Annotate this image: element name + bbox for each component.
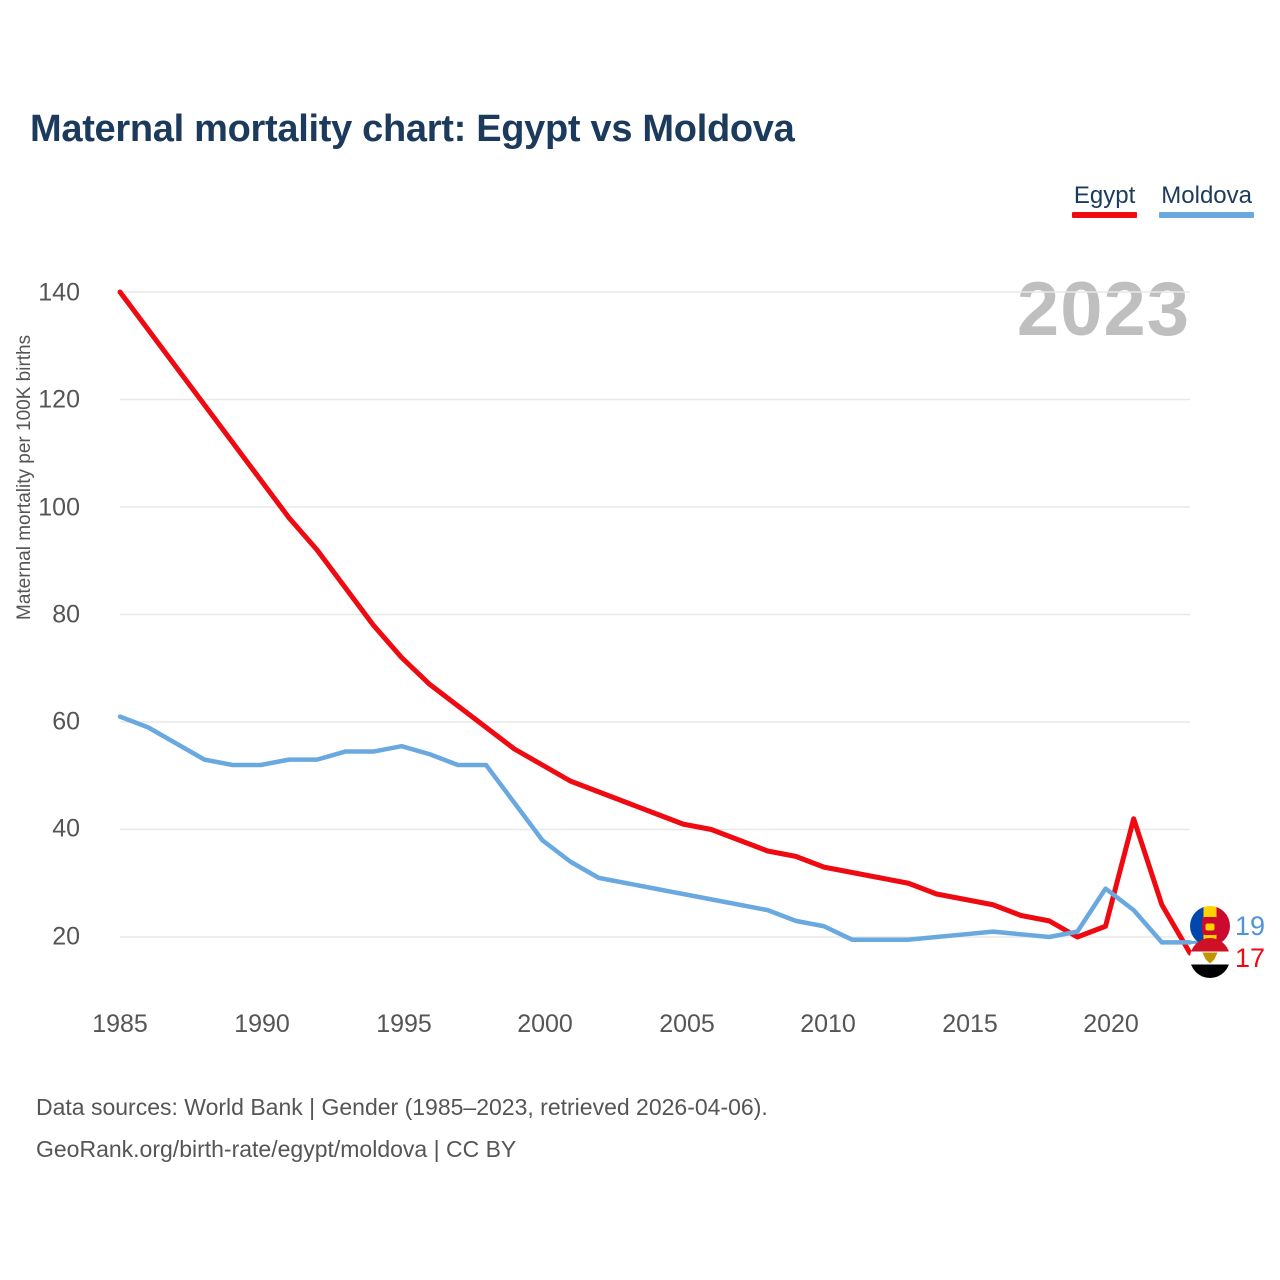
- legend-swatch-egypt: [1072, 212, 1137, 218]
- legend-label-moldova: Moldova: [1159, 182, 1254, 210]
- series-line-egypt: [120, 292, 1190, 953]
- series-paths: [120, 292, 1190, 953]
- legend-item-egypt[interactable]: Egypt: [1072, 182, 1137, 218]
- gridlines: [120, 292, 1190, 937]
- y-tick-40: 40: [10, 815, 80, 844]
- x-tick-1990: 1990: [217, 1010, 307, 1039]
- y-tick-100: 100: [10, 494, 80, 523]
- y-tick-80: 80: [10, 601, 80, 630]
- x-tick-2000: 2000: [500, 1010, 590, 1039]
- x-tick-1995: 1995: [359, 1010, 449, 1039]
- endpoint-value-egypt: 17: [1235, 943, 1265, 973]
- legend-swatch-moldova: [1159, 212, 1254, 218]
- legend-label-egypt: Egypt: [1072, 182, 1137, 210]
- x-tick-2005: 2005: [642, 1010, 732, 1039]
- x-tick-1985: 1985: [75, 1010, 165, 1039]
- footer-line-2: GeoRank.org/birth-rate/egypt/moldova | C…: [36, 1128, 768, 1170]
- series-line-moldova: [120, 717, 1190, 943]
- chart-legend: Egypt Moldova: [1072, 182, 1254, 218]
- y-tick-60: 60: [10, 708, 80, 737]
- footer-line-1: Data sources: World Bank | Gender (1985–…: [36, 1086, 768, 1128]
- endpoint-value-moldova: 19: [1235, 911, 1265, 941]
- y-tick-140: 140: [10, 279, 80, 308]
- x-tick-2015: 2015: [925, 1010, 1015, 1039]
- x-tick-2010: 2010: [783, 1010, 873, 1039]
- page-title: Maternal mortality chart: Egypt vs Moldo…: [30, 108, 794, 151]
- legend-item-moldova[interactable]: Moldova: [1159, 182, 1254, 218]
- chart-container: Maternal mortality chart: Egypt vs Moldo…: [0, 0, 1280, 1280]
- year-watermark: 2023: [1017, 272, 1190, 348]
- endpoint-egypt: 17: [1190, 938, 1265, 978]
- footer-credits: Data sources: World Bank | Gender (1985–…: [36, 1086, 768, 1170]
- x-tick-2020: 2020: [1066, 1010, 1156, 1039]
- y-tick-20: 20: [10, 923, 80, 952]
- egypt-flag-icon: [1190, 938, 1230, 978]
- y-axis-title: Maternal mortality per 100K births: [14, 335, 36, 620]
- y-tick-120: 120: [10, 386, 80, 415]
